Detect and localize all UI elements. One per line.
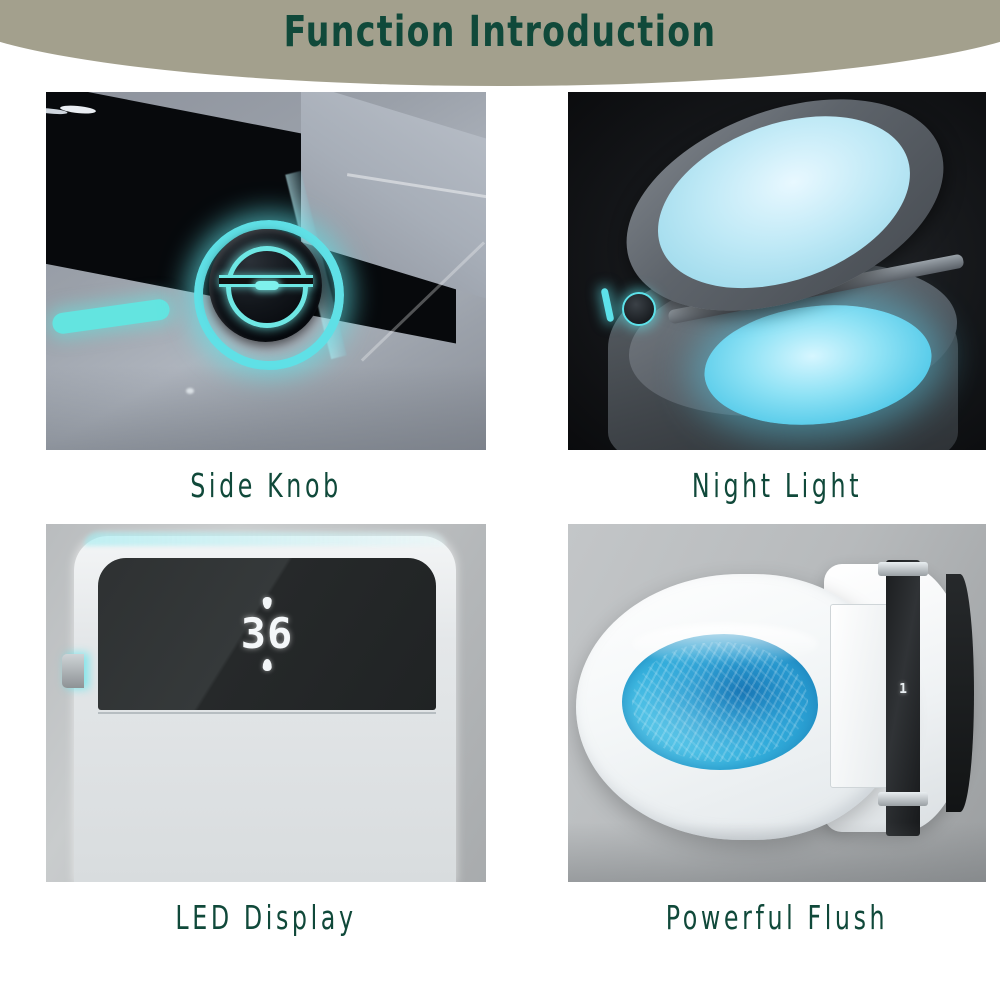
feature-card-powerful-flush: 1 Powerful Flush [568, 524, 986, 954]
top-edge-glow [84, 532, 446, 546]
lid-pad [830, 604, 890, 788]
side-button-icon [62, 654, 84, 688]
feature-card-led-display: 36 LED Display [46, 524, 486, 954]
page-title: Function Introduction [70, 0, 930, 68]
side-knob-icon [209, 229, 322, 342]
led-display-photo: 36 [46, 524, 486, 882]
water-drop-icon-top [262, 597, 271, 609]
housing-seam [98, 712, 436, 714]
header-banner: Function Introduction [0, 0, 1000, 92]
flush-panel-readout: 1 [890, 682, 916, 697]
led-screen: 36 [98, 558, 436, 710]
side-light-strip [601, 288, 615, 323]
caption-powerful-flush: Powerful Flush [610, 882, 944, 954]
bowl-rim-highlight [632, 624, 818, 664]
chrome-hinge-bottom-icon [878, 792, 928, 806]
side-knob-photo [46, 92, 486, 450]
side-knob-icon [622, 292, 656, 326]
feature-card-night-light: Night Light [568, 92, 986, 522]
powerful-flush-photo: 1 [568, 524, 986, 882]
led-readout-group: 36 [241, 594, 294, 674]
caption-side-knob: Side Knob [90, 450, 442, 522]
led-temperature-value: 36 [241, 612, 294, 656]
floor-shadow-gradient [568, 822, 986, 882]
feature-grid: Side Knob Night Light 36 [0, 92, 1000, 1000]
water-drop-icon-bottom [262, 659, 271, 671]
rear-dark-shell [946, 574, 974, 812]
bottom-shadow-gradient [46, 366, 486, 450]
knob-center-pip [255, 281, 279, 290]
feature-card-side-knob: Side Knob [46, 92, 486, 522]
cyan-status-bar-icon [51, 298, 171, 335]
caption-led-display: LED Display [90, 882, 442, 954]
toilet-front-housing: 36 [74, 536, 456, 882]
chrome-hinge-top-icon [878, 562, 928, 576]
night-light-photo [568, 92, 986, 450]
caption-night-light: Night Light [610, 450, 944, 522]
